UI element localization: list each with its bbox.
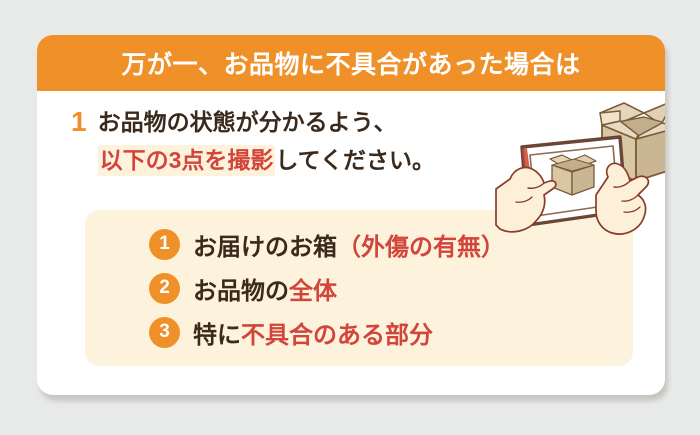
list-item-text-red-3: 不具合のある部分 (241, 322, 433, 349)
list-item-text-plain-1: お届けのお箱 (193, 234, 337, 261)
page-title: 万が一、お品物に不具合があった場合は (121, 45, 580, 81)
step-number: 1 (71, 103, 87, 141)
card-header: 万が一、お品物に不具合があった場合は (37, 35, 665, 91)
list-item-text-2: お品物の全体 (193, 271, 337, 306)
tablet-screen-box-preview-icon (550, 155, 596, 195)
list-item-text-3: 特に不具合のある部分 (193, 315, 433, 350)
list-item: 1 お届けのお箱（外傷の有無） (149, 222, 505, 266)
step-one-line: 1 お品物の状態が分かるよう、 以下の3点を撮影してください。 (71, 103, 541, 179)
step-text-column: お品物の状態が分かるよう、 以下の3点を撮影してください。 (98, 103, 435, 179)
list-badge-3: 3 (149, 317, 180, 348)
list-item-text-plain-2: お品物の (193, 278, 289, 305)
step-tail-text: してください。 (275, 147, 435, 173)
list-item-text-1: お届けのお箱（外傷の有無） (193, 227, 505, 262)
list-badge-1: 1 (149, 229, 180, 260)
instruction-card: 万が一、お品物に不具合があった場合は 1 お品物の状態が分かるよう、 以下の3点… (37, 35, 665, 395)
list-item: 2 お品物の全体 (149, 266, 505, 310)
illustration-hands-tablet-box (492, 85, 665, 250)
list-item-text-red-2: 全体 (289, 278, 337, 305)
step-text-line-2: 以下の3点を撮影してください。 (98, 141, 435, 179)
checklist-items: 1 お届けのお箱（外傷の有無） 2 お品物の全体 3 特に不具合のある部分 (149, 222, 505, 354)
list-badge-2: 2 (149, 273, 180, 304)
list-item-text-plain-3: 特に (193, 322, 241, 349)
step-text-line-1: お品物の状態が分かるよう、 (98, 103, 435, 141)
list-item-text-red-1: （外傷の有無） (337, 234, 505, 261)
step-highlight-text: 以下の3点を撮影 (98, 145, 276, 176)
screenshot-stage: 万が一、お品物に不具合があった場合は 1 お品物の状態が分かるよう、 以下の3点… (0, 0, 700, 435)
step-one-block: 1 お品物の状態が分かるよう、 以下の3点を撮影してください。 (71, 103, 541, 179)
list-item: 3 特に不具合のある部分 (149, 310, 505, 354)
